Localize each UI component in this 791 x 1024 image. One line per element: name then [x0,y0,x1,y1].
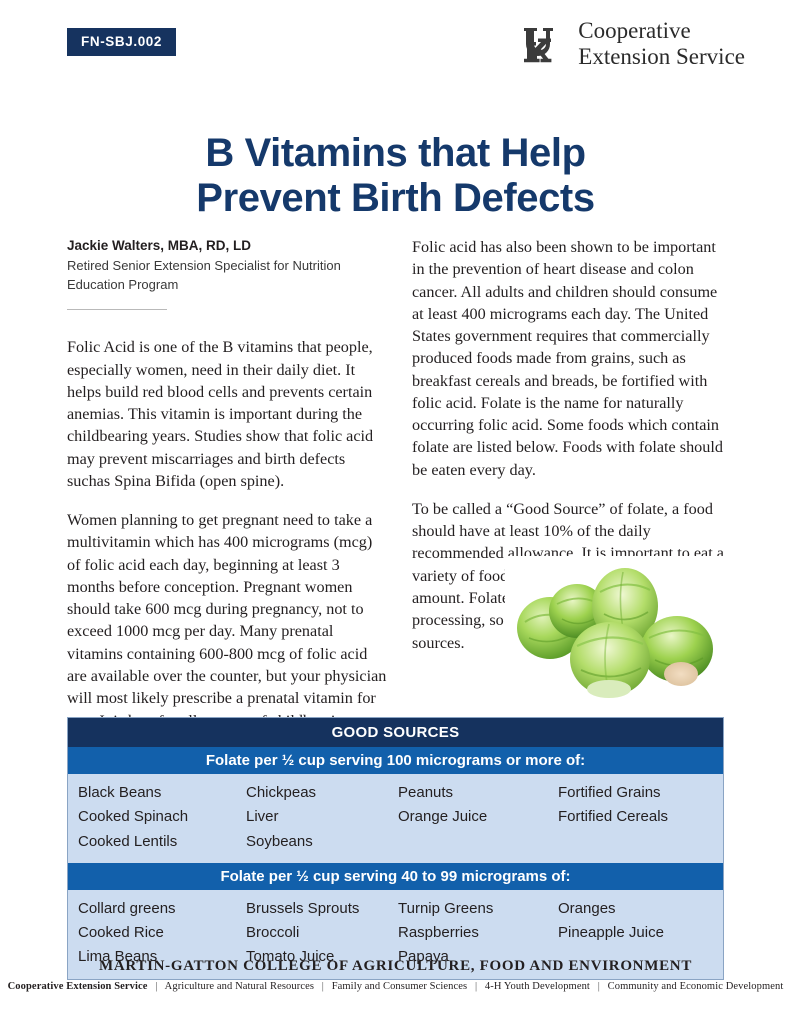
page-title-line-2: Prevent Birth Defects [0,176,791,221]
table-row: Cooked Lentils Soybeans [68,830,723,854]
body-paragraph: Folic Acid is one of the B vitamins that… [67,336,387,492]
table-cell: Cooked Rice [68,921,246,945]
footer-unit: Community and Economic Development [608,981,784,992]
table-cell: Turnip Greens [398,897,558,921]
table-cell: Soybeans [246,830,398,854]
table-subheader: Folate per ½ cup serving 100 micrograms … [68,747,723,774]
author-role-line-2: Education Program [67,276,387,295]
brand-line-1: Cooperative [578,18,745,44]
good-sources-table: GOOD SOURCES Folate per ½ cup serving 10… [67,717,724,980]
footer-unit: Cooperative Extension Service [8,981,148,992]
publication-id-badge: FN-SBJ.002 [67,28,176,56]
brussels-sprouts-image [505,556,740,711]
table-row: Cooked Spinach Liver Orange Juice Fortif… [68,805,723,829]
footer-separator: | [150,981,162,992]
author-name: Jackie Walters, MBA, RD, LD [67,236,387,256]
page-title-line-1: B Vitamins that Help [0,131,791,176]
table-cell: Raspberries [398,921,558,945]
footer-college-name: MARTIN-GATTON COLLEGE OF AGRICULTURE, FO… [0,958,791,975]
brand-line-2: Extension Service [578,44,745,70]
table-cell: Oranges [558,897,723,921]
table-title: GOOD SOURCES [68,718,723,747]
table-cell: Pineapple Juice [558,921,723,945]
table-cell: Liver [246,805,398,829]
table-cell: Brussels Sprouts [246,897,398,921]
body-paragraph: Folic acid has also been shown to be imp… [412,236,730,481]
uk-wordmark-icon [522,25,569,63]
table-cell: Orange Juice [398,805,558,829]
footer-separator: | [470,981,482,992]
author-role-line-1: Retired Senior Extension Specialist for … [67,257,387,276]
table-cell: Broccoli [246,921,398,945]
table-subheader: Folate per ½ cup serving 40 to 99 microg… [68,863,723,890]
brussels-sprouts-illustration [505,556,740,711]
page-footer: MARTIN-GATTON COLLEGE OF AGRICULTURE, FO… [0,958,791,992]
table-cell: Peanuts [398,781,558,805]
table-cell: Chickpeas [246,781,398,805]
table-cell: Cooked Spinach [68,805,246,829]
uk-cooperative-extension-logo: Cooperative Extension Service [522,18,745,70]
table-cell: Cooked Lentils [68,830,246,854]
table-cell [398,830,558,854]
table-section-body: Black Beans Chickpeas Peanuts Fortified … [68,774,723,863]
table-row: Collard greens Brussels Sprouts Turnip G… [68,897,723,921]
page-title: B Vitamins that Help Prevent Birth Defec… [0,131,791,221]
publication-page: FN-SBJ.002 Cooperative Extension Service… [0,0,791,1024]
table-cell: Fortified Grains [558,781,723,805]
table-cell: Fortified Cereals [558,805,723,829]
footer-unit: Agriculture and Natural Resources [165,981,314,992]
table-cell: Collard greens [68,897,246,921]
table-row: Black Beans Chickpeas Peanuts Fortified … [68,781,723,805]
table-cell: Black Beans [68,781,246,805]
brand-text: Cooperative Extension Service [578,18,745,70]
footer-separator: | [317,981,329,992]
footer-separator: | [593,981,605,992]
spacer [67,310,387,336]
footer-unit: 4-H Youth Development [485,981,590,992]
footer-unit: Family and Consumer Sciences [332,981,468,992]
table-cell [558,830,723,854]
footer-units: Cooperative Extension Service | Agricult… [0,981,791,992]
table-row: Cooked Rice Broccoli Raspberries Pineapp… [68,921,723,945]
